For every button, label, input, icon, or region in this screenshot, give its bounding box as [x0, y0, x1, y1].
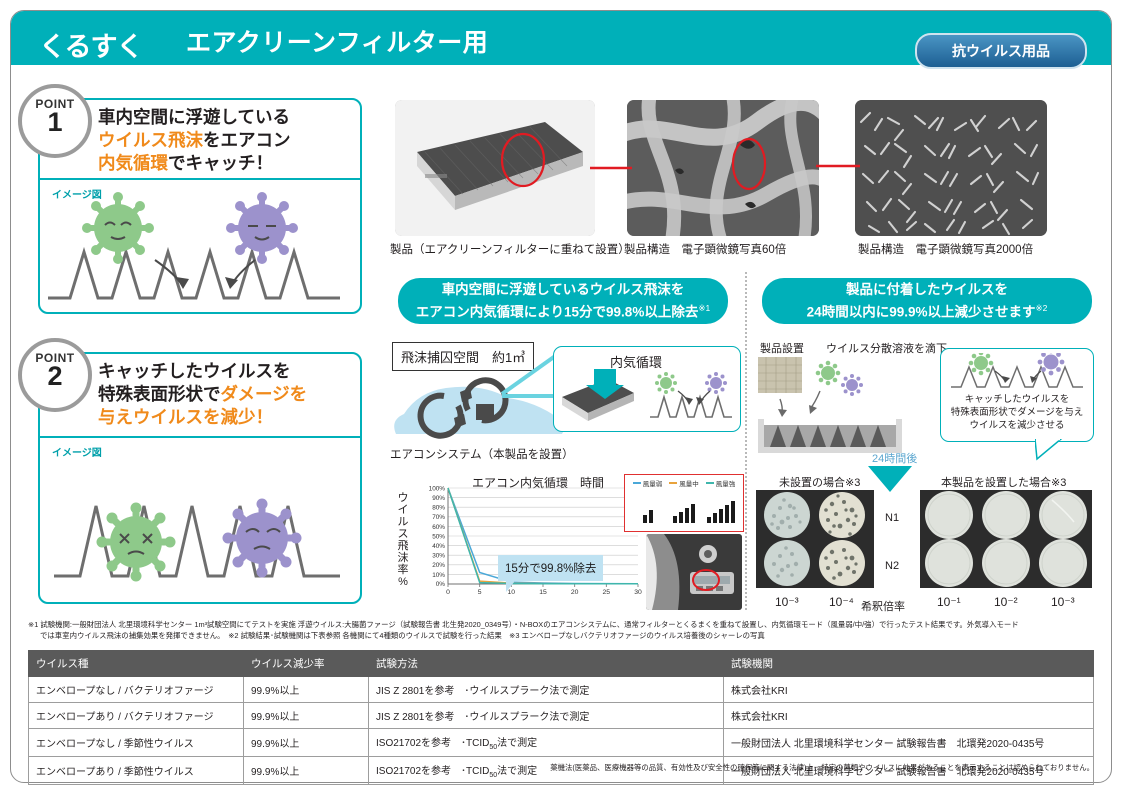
mechanism-callout: キャッチしたウイルスを 特殊表面形状でダメージを与え ウイルスを減少させる	[940, 348, 1094, 442]
legend-swatch-1	[669, 482, 677, 484]
photo-1-highlight-circle	[395, 100, 595, 236]
legend-label-2: 風量強	[716, 478, 736, 488]
svg-text:50%: 50%	[432, 533, 445, 540]
point-2-card: POINT 2 キャッチしたウイルスを 特殊表面形状でダメージを 与えウイルスを…	[38, 352, 362, 604]
point-1-badge-number: 1	[22, 111, 88, 133]
inner-circulation-illustration	[554, 369, 738, 429]
svg-text:30: 30	[634, 589, 642, 596]
svg-text:60%: 60%	[432, 524, 445, 531]
svg-text:5: 5	[478, 589, 482, 596]
banner-right-line1: 製品に付着したウイルスを	[846, 280, 1008, 299]
mechanism-callout-text: キャッチしたウイルスを 特殊表面形状でダメージを与え ウイルスを減少させる	[941, 393, 1093, 432]
point-1-text: 車内空間に浮遊している ウイルス飛沫をエアコン 内気循環でキャッチ！	[98, 106, 354, 175]
table-header-test-method: 試験方法	[369, 651, 724, 677]
svg-text:10%: 10%	[432, 572, 445, 579]
table-row: エンベロープなし / 季節性ウイルス 99.9%以上 ISO21702を参考 ･…	[29, 729, 1094, 757]
cell-virus-type: エンベロープあり / バクテリオファージ	[29, 703, 244, 729]
dilution-right-0: 10⁻¹	[937, 595, 961, 609]
chart-annotation: 15分で99.8%除去	[498, 555, 603, 581]
svg-text:30%: 30%	[432, 553, 445, 560]
car-callout-connector	[500, 352, 560, 412]
product-install-label: 製品設置	[760, 340, 804, 356]
cell-virus-type: エンベロープなし / バクテリオファージ	[29, 677, 244, 703]
point-2-line2-highlight: ダメージを	[221, 384, 308, 404]
cell-virus-type: エンベロープなし / 季節性ウイルス	[29, 729, 244, 757]
table-header-virus-type: ウイルス種	[29, 651, 244, 677]
banner-left: 車内空間に浮遊しているウイルス飛沫を エアコン内気循環により15分で99.8%以…	[398, 278, 728, 324]
dilution-right-2: 10⁻³	[1051, 595, 1075, 609]
product-photo-2	[627, 100, 819, 236]
dish-photo-treated	[920, 490, 1092, 588]
table-row: エンベロープなし / バクテリオファージ 99.9%以上 JIS Z 2801を…	[29, 677, 1094, 703]
point-1-header: POINT 1 車内空間に浮遊している ウイルス飛沫をエアコン 内気循環でキャッ…	[40, 100, 360, 180]
chart-y-axis-label: ウイルス飛沫率 %	[396, 492, 410, 588]
cell-virus-type: エンベロープあり / 季節性ウイルス	[29, 757, 244, 785]
cell-reduction-rate: 99.9%以上	[244, 729, 369, 757]
product-photo-3	[855, 100, 1047, 236]
point-1-illustration	[40, 180, 356, 312]
banner-left-note: ※1	[698, 303, 710, 313]
vertical-divider	[745, 272, 747, 610]
footnotes: ※1 試験機関:一般財団法人 北里環境科学センター 1m³試験空間にてテストを実…	[28, 620, 1094, 641]
cell-test-institution: 株式会社KRI	[724, 703, 1094, 729]
svg-text:0%: 0%	[436, 581, 446, 588]
cell-test-method: JIS Z 2801を参考 ･ウイルスプラーク法で測定	[369, 677, 724, 703]
dilution-left-0: 10⁻³	[775, 595, 799, 609]
product-photo-1	[395, 100, 595, 236]
photo-connector-1	[590, 160, 632, 176]
legal-disclaimer: 薬機法(医薬品、医療機器等の品質、有効性及び安全性の確保等に関する法律)上、特定…	[550, 762, 1094, 773]
dish-row-label-n2: N2	[885, 560, 899, 572]
point-1-card: POINT 1 車内空間に浮遊している ウイルス飛沫をエアコン 内気循環でキャッ…	[38, 98, 362, 314]
virus-drop-label: ウイルス分散溶液を滴下	[826, 340, 947, 356]
dish-right-title: 本製品を設置した場合※3	[941, 474, 1066, 490]
point-2-text: キャッチしたウイルスを 特殊表面形状でダメージを 与えウイルスを減少！	[98, 360, 354, 429]
table-header-test-institution: 試験機関	[724, 651, 1094, 677]
dilution-right-1: 10⁻²	[994, 595, 1018, 609]
banner-right-line2: 24時間以内に99.9%以上減少させます	[807, 305, 1036, 320]
svg-text:80%: 80%	[432, 505, 445, 512]
cell-test-institution: 株式会社KRI	[724, 677, 1094, 703]
point-1-line2-rest: をエアコン	[203, 130, 291, 150]
table-row: エンベロープあり / バクテリオファージ 99.9%以上 JIS Z 2801を…	[29, 703, 1094, 729]
point-1-line3-rest: でキャッチ！	[168, 153, 273, 173]
cell-test-method: ISO21702を参考 ･TCID50法で測定	[369, 729, 724, 757]
svg-text:20: 20	[571, 589, 579, 596]
cell-reduction-rate: 99.9%以上	[244, 703, 369, 729]
point-2-badge: POINT 2	[18, 338, 92, 412]
legend-swatch-2	[706, 482, 714, 484]
dish-photo-untreated	[756, 490, 874, 588]
photo-connector-2	[816, 158, 860, 174]
inner-circulation-callout: 内気循環	[553, 346, 741, 432]
legend-item-2: 風量強	[706, 478, 736, 488]
point-2-line1: キャッチしたウイルスを	[98, 360, 354, 383]
legend-item-0: 風量弱	[633, 478, 663, 488]
point-2-line3-highlight: 与えウイルスを減少！	[98, 407, 273, 427]
table-header-reduction-rate: ウイルス減少率	[244, 651, 369, 677]
svg-text:25: 25	[603, 589, 611, 596]
svg-text:100%: 100%	[429, 485, 446, 492]
svg-text:40%: 40%	[432, 543, 445, 550]
dashboard-photo	[646, 534, 742, 610]
svg-text:90%: 90%	[432, 495, 445, 502]
page-title: エアクリーンフィルター用	[186, 23, 488, 59]
product-photo-1-caption: 製品（エアクリーンフィルターに重ねて設置）	[390, 241, 630, 257]
banner-left-line2: エアコン内気循環により15分で99.8%以上除去	[416, 305, 699, 320]
point-1-line2-highlight: ウイルス飛沫	[98, 130, 203, 150]
legend-item-1: 風量中	[669, 478, 699, 488]
ac-system-caption: エアコンシステム（本製品を設置）	[390, 446, 574, 462]
down-arrow-icon	[868, 466, 912, 494]
banner-right: 製品に付着したウイルスを 24時間以内に99.9%以上減少させます※2	[762, 278, 1092, 324]
brochure-page: くるすく エアクリーンフィルター用 抗ウイルス用品 POINT 1 車内空間に浮…	[0, 0, 1122, 793]
photo-2-highlight-circle	[627, 100, 819, 236]
svg-text:20%: 20%	[432, 562, 445, 569]
point-1-badge: POINT 1	[18, 84, 92, 158]
mechanism-line2: 特殊表面形状でダメージを与え	[941, 406, 1093, 419]
dilution-label: 希釈倍率	[861, 598, 905, 614]
brand-logo: くるすく	[39, 25, 142, 64]
status-badge: 抗ウイルス用品	[915, 33, 1087, 69]
mechanism-line3: ウイルスを減少させる	[941, 419, 1093, 432]
dilution-left-1: 10⁻⁴	[829, 595, 854, 609]
fan-level-icons	[629, 497, 739, 527]
footnote-line-1: ※1 試験機関:一般財団法人 北里環境科学センター 1m³試験空間にてテストを実…	[28, 620, 1094, 631]
beaker-illustration	[756, 355, 956, 455]
cell-reduction-rate: 99.9%以上	[244, 677, 369, 703]
page-header: くるすく エアクリーンフィルター用 抗ウイルス用品	[11, 11, 1111, 65]
banner-left-line1: 車内空間に浮遊しているウイルス飛沫を	[442, 280, 685, 299]
virus-reduction-chart: 100%90%80% 70%60%50% 40%30%20% 10%0% 051…	[412, 482, 642, 612]
point-1-line1: 車内空間に浮遊している	[98, 106, 354, 129]
mechanism-line1: キャッチしたウイルスを	[941, 393, 1093, 406]
chart-legend: 風量弱 風量中 風量強	[624, 474, 744, 532]
table-header-row: ウイルス種 ウイルス減少率 試験方法 試験機関	[29, 651, 1094, 677]
dish-left-title: 未設置の場合※3	[779, 474, 860, 490]
cell-test-institution: 一般財団法人 北里環境科学センター 試験報告書 北環発2020-0435号	[724, 729, 1094, 757]
legend-label-0: 風量弱	[643, 478, 663, 488]
point-1-line3-highlight: 内気循環	[98, 153, 168, 173]
banner-right-note: ※2	[1035, 303, 1047, 313]
legend-swatch-0	[633, 482, 641, 484]
point-2-header: POINT 2 キャッチしたウイルスを 特殊表面形状でダメージを 与えウイルスを…	[40, 354, 360, 438]
callout-tail	[1035, 439, 1069, 461]
svg-text:0: 0	[446, 589, 450, 596]
svg-text:70%: 70%	[432, 514, 445, 521]
cell-reduction-rate: 99.9%以上	[244, 757, 369, 785]
point-2-badge-number: 2	[22, 365, 88, 387]
product-photo-2-caption: 製品構造 電子顕微鏡写真60倍	[624, 241, 786, 257]
point-2-illustration	[40, 450, 356, 602]
mechanism-illustration	[947, 353, 1087, 393]
product-photo-3-caption: 製品構造 電子顕微鏡写真2000倍	[858, 241, 1033, 257]
footnote-line-2: では車室内ウイルス飛沫の捕集効果を発揮できません。 ※2 試験結果･試験機関は下…	[28, 631, 1094, 642]
after-24h-label: 24時間後	[872, 450, 917, 466]
cell-test-method: JIS Z 2801を参考 ･ウイルスプラーク法で測定	[369, 703, 724, 729]
point-2-line2-rest: 特殊表面形状で	[98, 384, 221, 404]
svg-text:15: 15	[539, 589, 547, 596]
legend-label-1: 風量中	[679, 478, 699, 488]
brand-logo-text: くるすく	[39, 32, 142, 62]
dish-row-label-n1: N1	[885, 512, 899, 524]
